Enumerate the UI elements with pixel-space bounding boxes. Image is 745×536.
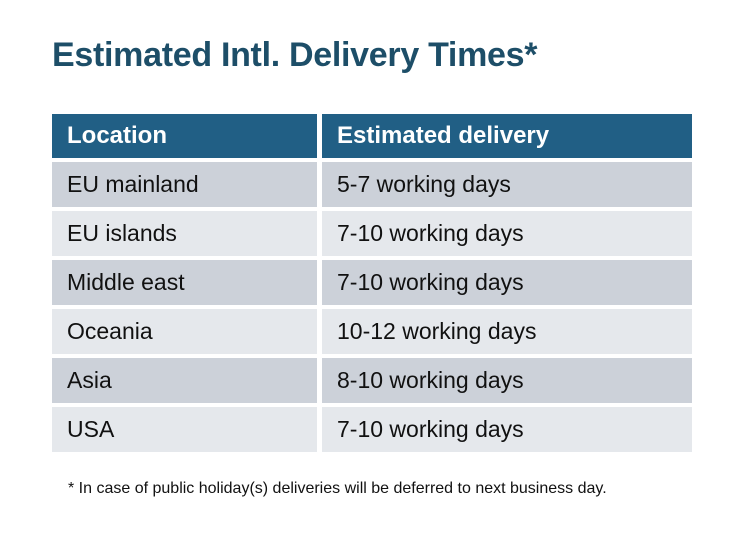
delivery-times-document: Estimated Intl. Delivery Times* Location… bbox=[0, 0, 745, 536]
cell-location: USA bbox=[52, 407, 317, 452]
table-row: EU mainland 5-7 working days bbox=[52, 162, 692, 207]
cell-location: EU islands bbox=[52, 211, 317, 256]
table-row: Asia 8-10 working days bbox=[52, 358, 692, 403]
cell-delivery: 5-7 working days bbox=[322, 162, 692, 207]
page-title: Estimated Intl. Delivery Times* bbox=[52, 36, 537, 75]
table-row: USA 7-10 working days bbox=[52, 407, 692, 452]
column-header-location: Location bbox=[52, 114, 317, 158]
cell-delivery: 8-10 working days bbox=[322, 358, 692, 403]
table-header-row: Location Estimated delivery bbox=[52, 114, 692, 158]
delivery-times-table: Location Estimated delivery EU mainland … bbox=[52, 114, 692, 452]
cell-location: EU mainland bbox=[52, 162, 317, 207]
cell-delivery: 7-10 working days bbox=[322, 260, 692, 305]
cell-location: Oceania bbox=[52, 309, 317, 354]
table-row: Oceania 10-12 working days bbox=[52, 309, 692, 354]
table-row: Middle east 7-10 working days bbox=[52, 260, 692, 305]
cell-location: Asia bbox=[52, 358, 317, 403]
column-header-estimated-delivery: Estimated delivery bbox=[322, 114, 692, 158]
cell-delivery: 10-12 working days bbox=[322, 309, 692, 354]
footnote-text: * In case of public holiday(s) deliverie… bbox=[68, 480, 607, 498]
cell-location: Middle east bbox=[52, 260, 317, 305]
cell-delivery: 7-10 working days bbox=[322, 211, 692, 256]
table-row: EU islands 7-10 working days bbox=[52, 211, 692, 256]
cell-delivery: 7-10 working days bbox=[322, 407, 692, 452]
